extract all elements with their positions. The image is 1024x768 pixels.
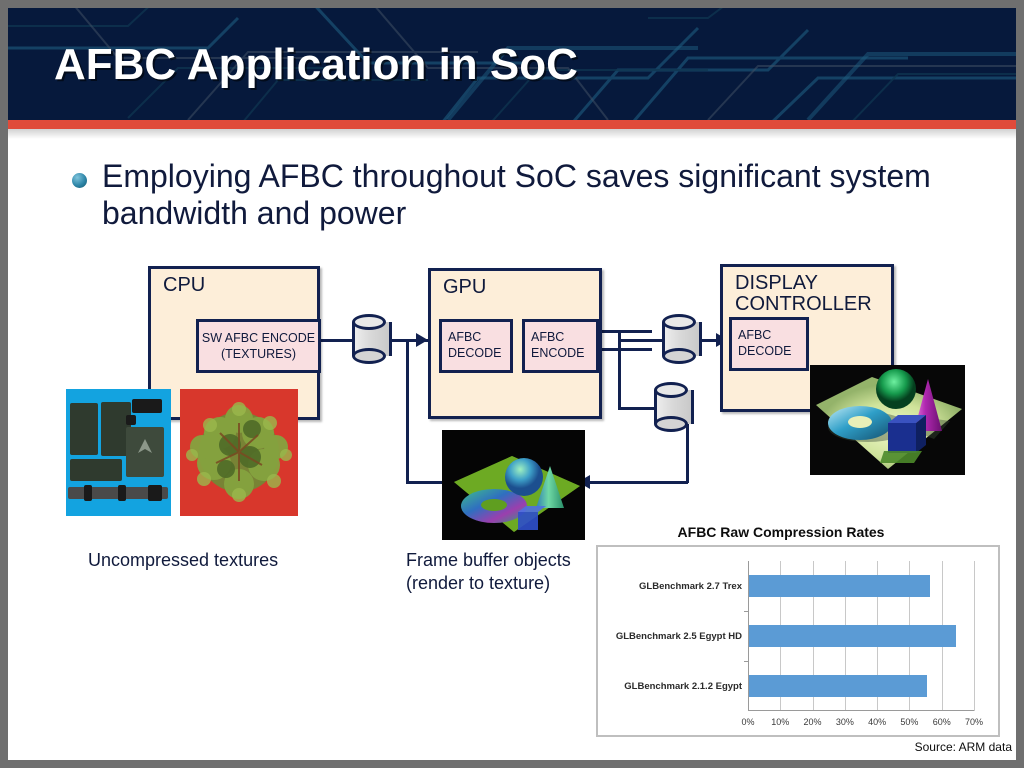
foliage-texture-image bbox=[180, 389, 298, 516]
uncompressed-textures-caption: Uncompressed textures bbox=[88, 549, 348, 572]
display-render-svg-icon bbox=[810, 365, 965, 475]
chart-category-tick bbox=[744, 611, 748, 612]
slide-header: AFBC Application in SoC bbox=[8, 8, 1016, 120]
gpu-afbc-encode-label: AFBC ENCODE bbox=[531, 330, 584, 361]
chart-category-label: GLBenchmark 2.1.2 Egypt bbox=[602, 681, 742, 692]
chart-source-label: Source: ARM data bbox=[915, 740, 1012, 754]
chart-category-tick bbox=[744, 661, 748, 662]
display-afbc-decode-label: AFBC DECODE bbox=[738, 328, 791, 359]
chart-gridline bbox=[974, 561, 975, 711]
wire-to-lower-memory bbox=[618, 407, 654, 410]
bullet-text: Employing AFBC throughout SoC saves sign… bbox=[102, 158, 952, 232]
header-shadow bbox=[8, 129, 1016, 139]
frame-buffer-objects-caption: Frame buffer objects (render to texture) bbox=[406, 549, 626, 596]
gpu-block[interactable]: GPU AFBC DECODE AFBC ENCODE bbox=[428, 268, 602, 419]
wire-gpu-to-lower-memory bbox=[618, 330, 621, 410]
chart-category-label: GLBenchmark 2.5 Egypt HD bbox=[602, 631, 742, 642]
chart-plot-area: 0%10%20%30%40%50%60%70%GLBenchmark 2.7 T… bbox=[748, 561, 974, 711]
memory-cylinder-1[interactable] bbox=[352, 314, 386, 364]
chart-x-axis bbox=[748, 710, 974, 711]
wire-feedback-up bbox=[406, 339, 409, 484]
chart-category-label: GLBenchmark 2.7 Trex bbox=[602, 581, 742, 592]
chart-x-tick-label: 0% bbox=[732, 717, 764, 727]
chart-bar bbox=[749, 625, 956, 647]
display-controller-title: DISPLAY CONTROLLER bbox=[735, 273, 872, 315]
wire-gpu-encode-out bbox=[596, 330, 652, 333]
chart-title: AFBC Raw Compression Rates bbox=[596, 524, 966, 540]
foliage-svg-icon bbox=[180, 389, 298, 516]
gpu-block-title: GPU bbox=[443, 277, 486, 298]
slide: AFBC Application in SoC Employing AFBC t… bbox=[8, 8, 1016, 760]
texture-glyph-icon bbox=[134, 437, 156, 463]
chart-x-tick-label: 60% bbox=[926, 717, 958, 727]
chart-bar bbox=[749, 675, 927, 697]
chart-bar bbox=[749, 575, 930, 597]
afbc-compression-chart: AFBC Raw Compression Rates 0%10%20%30%40… bbox=[596, 524, 1016, 760]
chart-x-tick-label: 70% bbox=[958, 717, 990, 727]
wire-gpu-to-upper-memory bbox=[618, 339, 662, 342]
wire-feedback-into-gpu bbox=[406, 339, 430, 342]
fbo-render-svg-icon bbox=[442, 430, 585, 540]
wire-feedback-left bbox=[586, 481, 688, 484]
display-render-image bbox=[810, 365, 965, 475]
chart-x-tick-label: 10% bbox=[764, 717, 796, 727]
cpu-sw-afbc-encode-box[interactable]: SW AFBC ENCODE (TEXTURES) bbox=[196, 319, 321, 373]
cpu-block-title: CPU bbox=[163, 275, 205, 296]
cpu-sw-afbc-encode-label: SW AFBC ENCODE (TEXTURES) bbox=[199, 331, 318, 362]
memory-cylinder-3[interactable] bbox=[654, 382, 688, 432]
wire-gpu-encode-out-2 bbox=[596, 348, 652, 351]
texture-atlas-image bbox=[66, 389, 171, 516]
memory-cylinder-2[interactable] bbox=[662, 314, 696, 364]
gpu-afbc-encode-box[interactable]: AFBC ENCODE bbox=[522, 319, 599, 373]
chart-x-tick-label: 30% bbox=[829, 717, 861, 727]
chart-x-tick-label: 50% bbox=[893, 717, 925, 727]
gpu-afbc-decode-label: AFBC DECODE bbox=[448, 330, 501, 361]
chart-x-tick-label: 40% bbox=[861, 717, 893, 727]
display-afbc-decode-box[interactable]: AFBC DECODE bbox=[729, 317, 809, 371]
bullet-dot-icon bbox=[72, 173, 87, 188]
fbo-render-image bbox=[442, 430, 585, 540]
gpu-afbc-decode-box[interactable]: AFBC DECODE bbox=[439, 319, 513, 373]
chart-x-tick-label: 20% bbox=[797, 717, 829, 727]
page-title: AFBC Application in SoC bbox=[54, 40, 578, 90]
header-accent-bar bbox=[8, 120, 1016, 129]
chart-panel: 0%10%20%30%40%50%60%70%GLBenchmark 2.7 T… bbox=[596, 545, 1000, 737]
